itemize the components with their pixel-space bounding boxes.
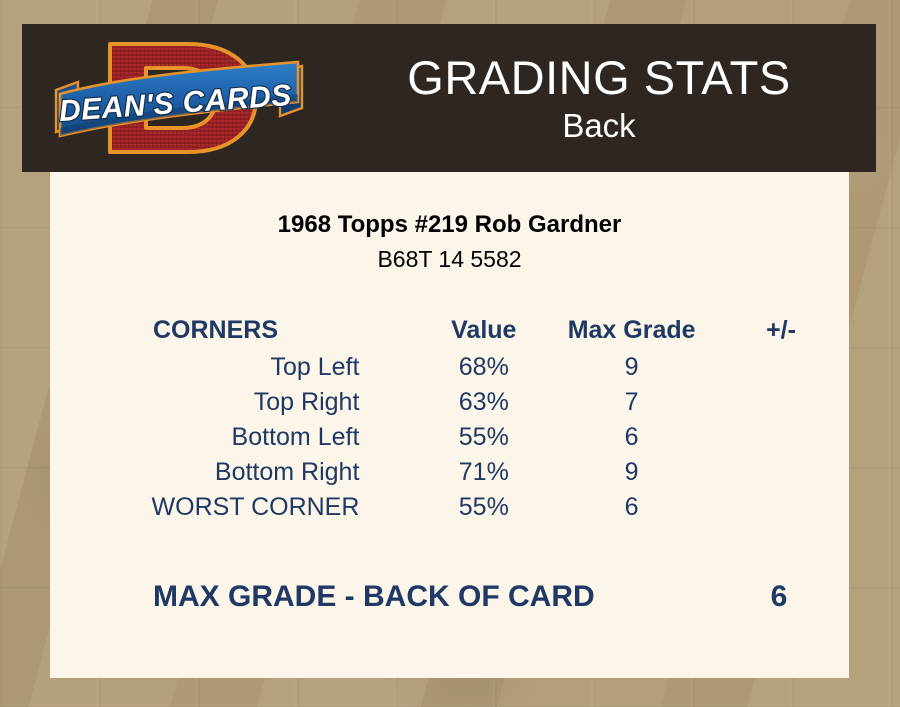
row-plus-minus: [713, 490, 849, 525]
row-label: WORST CORNER: [50, 490, 417, 525]
table-header: CORNERS Value Max Grade +/-: [50, 310, 849, 350]
row-label: Top Left: [50, 350, 417, 385]
table-row-worst-corner: WORST CORNER 55% 6: [50, 490, 849, 525]
page-subtitle: Back: [562, 107, 635, 145]
table-body: Top Left 68% 9 Top Right 63% 7 Bottom Le…: [50, 350, 849, 525]
row-value: 55%: [417, 490, 550, 525]
deans-cards-logo: DEAN'S CARDS: [48, 28, 310, 168]
row-label: Top Right: [50, 385, 417, 420]
header-title-group: GRADING STATS Back: [322, 24, 876, 172]
max-grade-value: 6: [686, 577, 872, 617]
page-root: DEAN'S CARDS GRADING STATS Back 1968 Top…: [0, 0, 900, 707]
content-panel: 1968 Topps #219 Rob Gardner B68T 14 5582…: [50, 172, 849, 678]
column-header-max-grade: Max Grade: [550, 310, 713, 350]
table-row: Top Left 68% 9: [50, 350, 849, 385]
table-header-row: CORNERS Value Max Grade +/-: [50, 310, 849, 350]
max-grade-summary: MAX GRADE - BACK OF CARD 6: [50, 577, 849, 617]
row-max-grade: 9: [550, 350, 713, 385]
table-row: Bottom Left 55% 6: [50, 420, 849, 455]
row-plus-minus: [713, 420, 849, 455]
table-row: Top Right 63% 7: [50, 385, 849, 420]
row-value: 63%: [417, 385, 550, 420]
row-max-grade: 9: [550, 455, 713, 490]
card-sku: B68T 14 5582: [50, 244, 849, 274]
page-title: GRADING STATS: [407, 51, 790, 105]
card-title: 1968 Topps #219 Rob Gardner: [50, 210, 849, 240]
column-header-corners: CORNERS: [50, 310, 417, 350]
header-band: DEAN'S CARDS GRADING STATS Back: [22, 24, 876, 172]
max-grade-label: MAX GRADE - BACK OF CARD: [153, 577, 595, 617]
table-row: Bottom Right 71% 9: [50, 455, 849, 490]
row-value: 68%: [417, 350, 550, 385]
row-value: 55%: [417, 420, 550, 455]
row-max-grade: 7: [550, 385, 713, 420]
row-plus-minus: [713, 385, 849, 420]
column-header-value: Value: [417, 310, 550, 350]
row-label: Bottom Right: [50, 455, 417, 490]
row-plus-minus: [713, 350, 849, 385]
row-max-grade: 6: [550, 490, 713, 525]
row-value: 71%: [417, 455, 550, 490]
row-label: Bottom Left: [50, 420, 417, 455]
grading-stats-table: CORNERS Value Max Grade +/- Top Left 68%…: [50, 310, 849, 525]
column-header-plus-minus: +/-: [713, 310, 849, 350]
row-plus-minus: [713, 455, 849, 490]
row-max-grade: 6: [550, 420, 713, 455]
